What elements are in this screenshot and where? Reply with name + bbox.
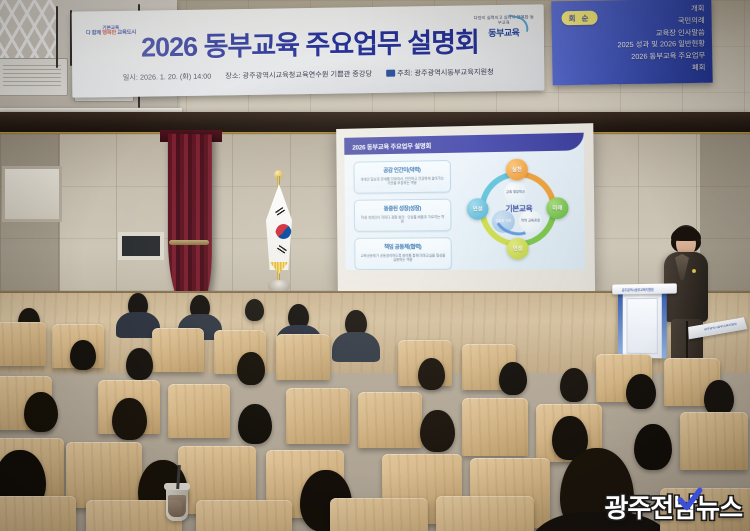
audience-head: [634, 424, 672, 470]
slide-box: 동중된 성장(성장) 학생 개개인이 저마다 경험 창의 · 인성을 배움과 가…: [354, 199, 452, 232]
audience-head: [418, 358, 445, 390]
banner-right-logo: 다양이 실력이고 실력이 행복한 동부교육 동부교육: [472, 14, 536, 39]
hanging-cable-1: [56, 6, 58, 68]
slide-box-detail: 학생 개개인이 저마다 경험 창의 · 인성을 배움과 가르치는 역량: [355, 214, 450, 224]
agenda-item: 2025 성과 및 2026 일반현황: [559, 38, 705, 52]
slide-box-heading: 공감 인간미(덕력): [354, 165, 449, 175]
trigram-icon: [276, 245, 287, 255]
host-logo-chip: [386, 70, 395, 77]
audience-head: [245, 299, 264, 321]
agenda-item: 국민의례: [559, 15, 705, 29]
audience-head: [420, 410, 455, 452]
seat: [66, 442, 142, 508]
diagram-node-left: 인성: [467, 198, 489, 220]
banner-host: 주최: 광주광역시동부교육지원청: [397, 67, 494, 78]
audience-head: [24, 392, 58, 432]
slide-left-boxes: 공감 인간미(덕력) 개개인 일상과 관계를 더하여서, 안전하고 건강하게 살…: [353, 160, 452, 270]
trigram-icon: [275, 207, 286, 217]
audience-shoulders: [332, 332, 380, 362]
seat: [462, 398, 528, 456]
diagram-node-right: 미래: [546, 197, 569, 219]
audience-head: [626, 374, 656, 409]
slide-box: 공감 인간미(덕력) 개개인 일상과 관계를 더하여서, 안전하고 건강하게 살…: [353, 160, 451, 194]
speaker-name-badge: [692, 269, 696, 273]
agenda-item: 개회: [558, 3, 704, 17]
news-watermark: 광주전남뉴스: [604, 488, 742, 525]
slide-box: 책임 공동체(협력) 교육공동체가 공동참여하도록 참여를 통해 미래교실을 형…: [354, 237, 452, 270]
slide-box-heading: 책임 공동체(협력): [355, 242, 450, 251]
slide-title-bar: 2026 동부교육 주요업무 설명회: [344, 133, 584, 155]
agenda-item: 폐회: [559, 62, 705, 76]
seat: [286, 388, 350, 444]
korean-flag-stand: [262, 176, 296, 298]
audience-head: [704, 380, 734, 416]
slide-circular-diagram: 교육 행정혁신 맞춤형 지원 학력 교육과정 기본교육 실천 미래 인성 인성: [458, 156, 577, 268]
audience-head: [126, 348, 153, 380]
podium-plate-text: 광주광역시동부교육지원청: [622, 287, 654, 293]
audience-head: [237, 352, 265, 385]
curtain-tieback: [169, 240, 209, 245]
seat: [196, 500, 292, 531]
projection-screen: 2026 동부교육 주요업무 설명회 공감 인간미(덕력) 개개인 일상과 관계…: [336, 123, 595, 293]
banner-host-wrap: 주최: 광주광역시동부교육지원청: [386, 67, 494, 79]
diagram-center-label: 기본교육: [490, 203, 549, 215]
cup-liquid: [168, 495, 186, 517]
audience-head: [112, 398, 147, 440]
seat: [680, 412, 748, 470]
seat: [358, 392, 422, 448]
slide-box-detail: 교육공동체가 공동참여하도록 참여를 통해 미래교실을 형성을 실현하는 역량: [355, 253, 450, 262]
agenda-item: 교육장 인사말씀: [559, 26, 705, 40]
agenda-list: 개회 국민의례 교육장 인사말씀 2025 성과 및 2026 일반현황 202…: [558, 3, 705, 76]
taegukgi-flag-icon: [266, 184, 292, 270]
event-banner: 기본교육 다 함께 행복한 교육도시 2026 동부교육 주요업무 설명회 일시…: [72, 4, 545, 97]
watermark-text-after: 스: [719, 493, 742, 523]
seat: [436, 496, 534, 531]
diagram-mini-node: 교육 행정혁신: [504, 181, 527, 204]
diagram-node-bottom: 인성: [507, 238, 529, 260]
seat: [330, 498, 428, 531]
banner-place: 장소: 광주광역시교육청교육연수원 기쁨관 중강당: [225, 69, 372, 81]
audience-head: [499, 362, 527, 395]
banner-subtitle: 일시: 2026. 1. 20. (화) 14:00 장소: 광주광역시교육청교…: [86, 67, 530, 84]
audience-head: [70, 340, 96, 370]
control-room-window: [118, 232, 164, 260]
presentation-slide: 2026 동부교육 주요업무 설명회 공감 인간미(덕력) 개개인 일상과 관계…: [344, 133, 585, 270]
podium-top-surface: 광주광역시동부교육지원청: [612, 283, 677, 294]
seat: [0, 496, 76, 531]
checkmark-icon: [677, 487, 703, 513]
banner-title: 2026 동부교육 주요업무 설명회: [110, 20, 510, 65]
agenda-pill-label: 회 순: [561, 11, 597, 26]
taeguk-symbol-icon: [273, 221, 293, 241]
slide-box-heading: 동중된 성장(성장): [355, 204, 450, 213]
audience-head: [238, 404, 272, 444]
slide-box-detail: 개개인 일상과 관계를 더하여서, 안전하고 건강하게 살아가는 기반을 보장하…: [355, 176, 450, 186]
stage-curtain: [168, 134, 212, 307]
photo-scene: 기본교육 다 함께 행복한 교육도시 2026 동부교육 주요업무 설명회 일시…: [0, 0, 750, 531]
coffee-cup: [166, 487, 188, 521]
agenda-item: 2026 동부교육 주요업무: [559, 50, 705, 64]
wall-notice-board: [2, 166, 62, 222]
audience-head: [560, 368, 588, 402]
banner-datetime: 일시: 2026. 1. 20. (화) 14:00: [123, 72, 212, 83]
slide-title: 2026 동부교육 주요업무 설명회: [352, 141, 431, 152]
seat: [0, 322, 46, 366]
agenda-board: 회 순 개회 국민의례 교육장 인사말씀 2025 성과 및 2026 일반현황…: [551, 0, 712, 85]
seat: [152, 328, 204, 372]
seat: [276, 334, 330, 380]
seat: [168, 384, 230, 438]
